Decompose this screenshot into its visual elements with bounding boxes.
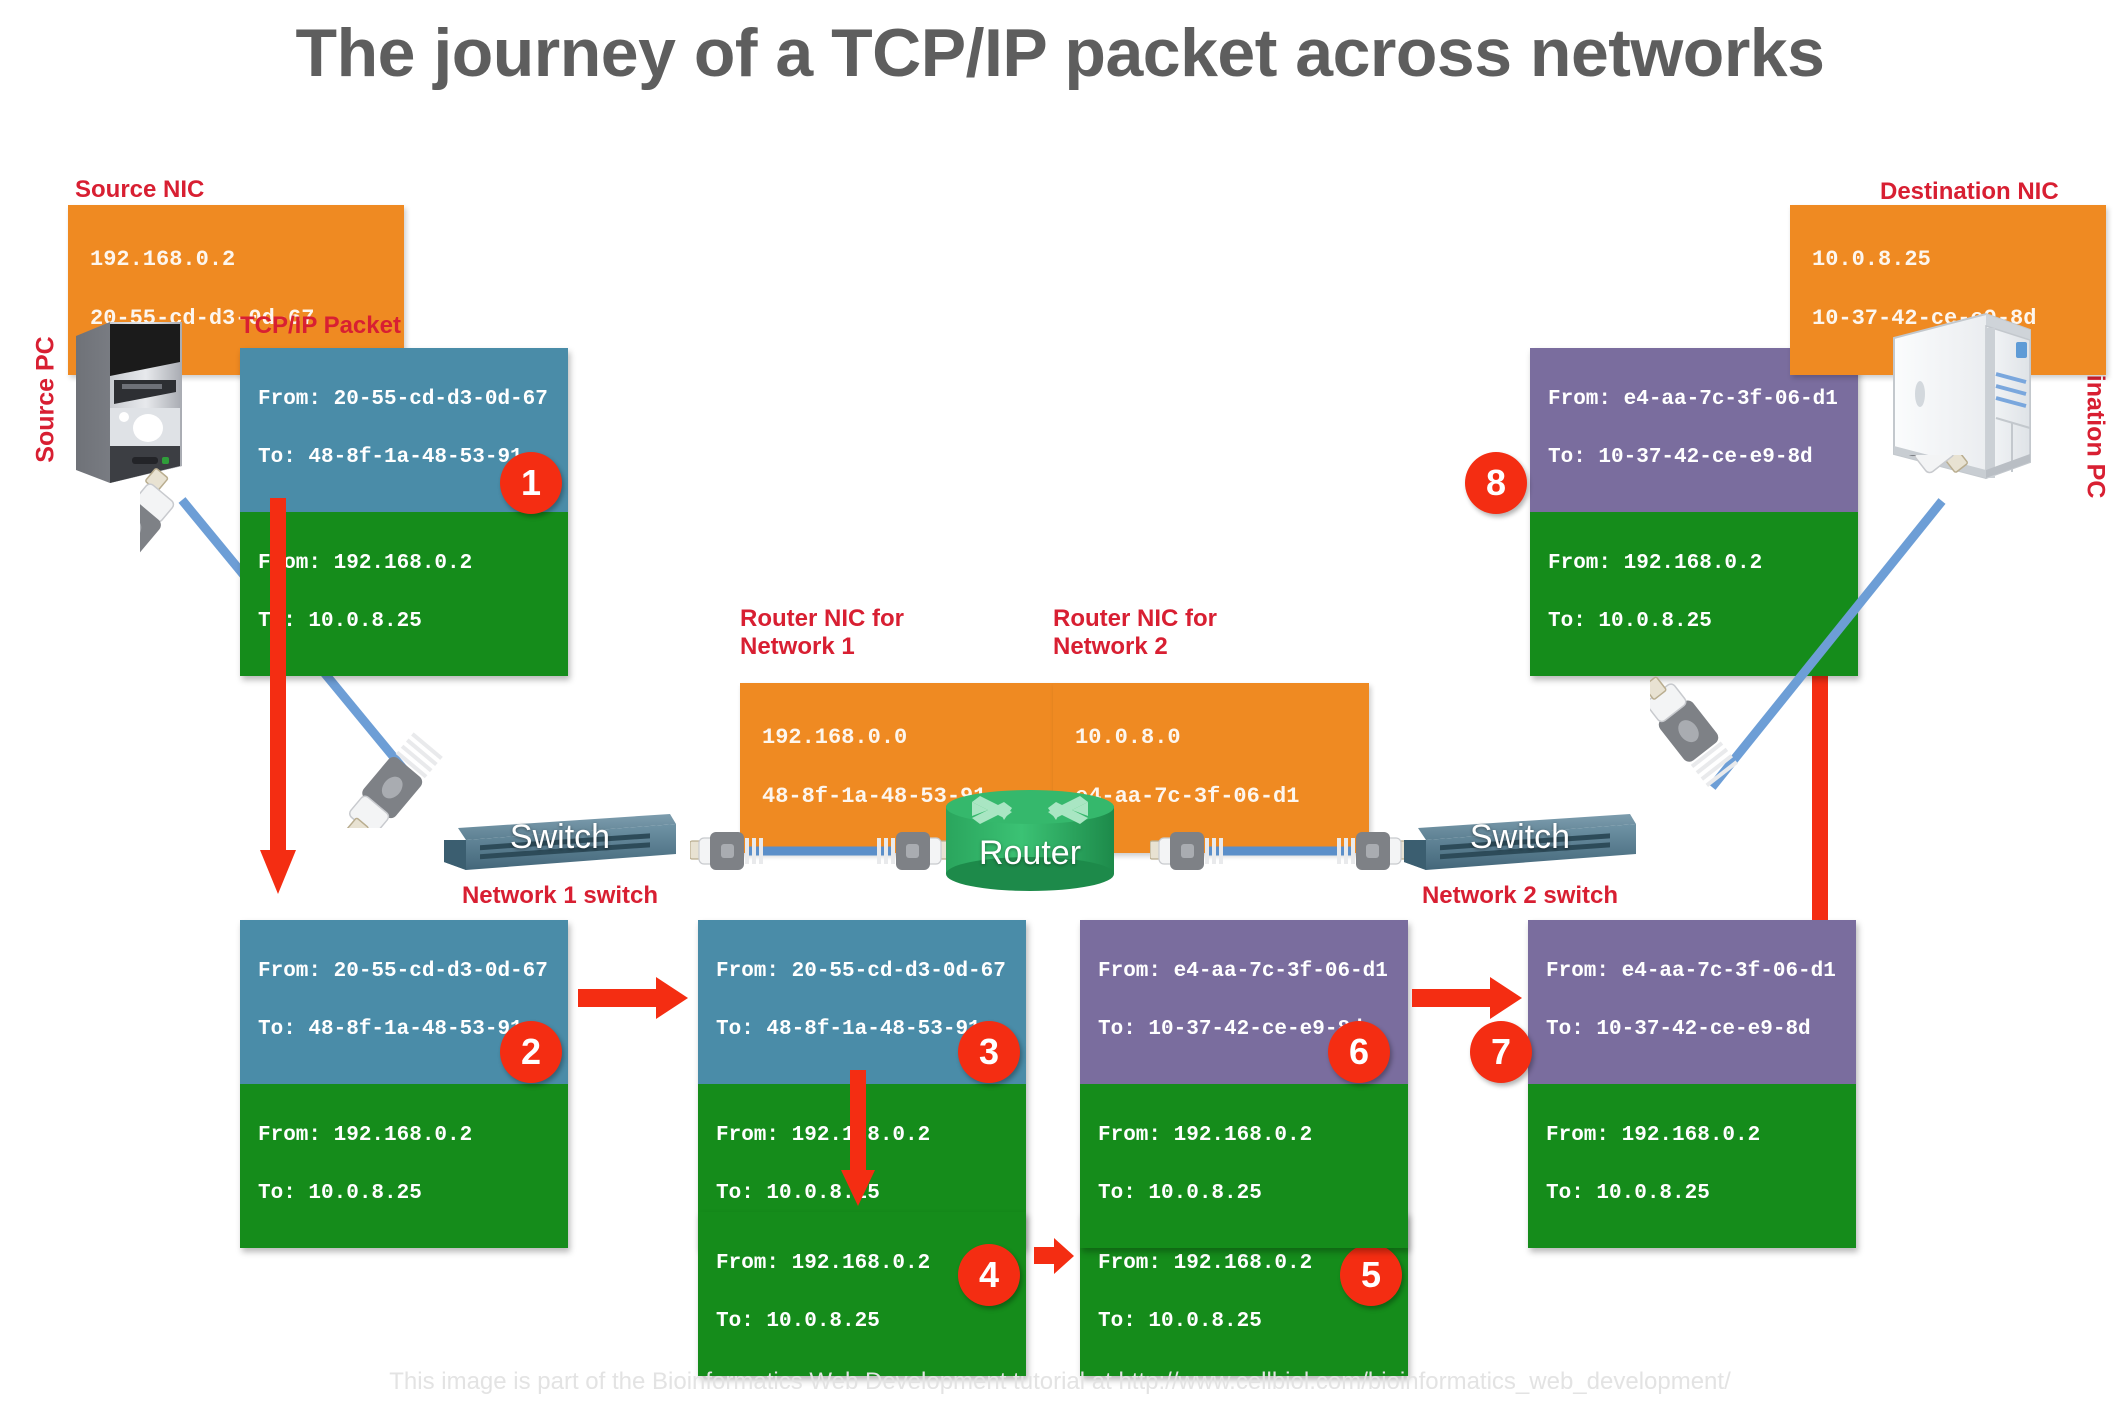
step-badge-1: 1 xyxy=(500,452,562,514)
step-badge-2: 2 xyxy=(500,1021,562,1083)
packet-6-ip-to: To: 10.0.8.25 xyxy=(1098,1180,1398,1209)
source-pc-label: Source PC xyxy=(32,330,61,470)
network2-switch-name: Switch xyxy=(1400,818,1640,857)
network1-switch-name: Switch xyxy=(440,818,680,857)
step-badge-7: 7 xyxy=(1470,1021,1532,1083)
step-badge-6: 6 xyxy=(1328,1021,1390,1083)
ethernet-cable-right-icon xyxy=(1650,455,1990,835)
packet-box-2: From: 20-55-cd-d3-0d-67 To: 48-8f-1a-48-… xyxy=(240,920,568,1248)
source-nic-label: Source NIC xyxy=(75,176,204,204)
packet-1-ip-to: To: 10.0.8.25 xyxy=(258,608,558,637)
packet-3-mac-from: From: 20-55-cd-d3-0d-67 xyxy=(716,958,1016,987)
router-nic-net2-ip: 10.0.8.0 xyxy=(1075,723,1353,753)
packet-box-6: From: e4-aa-7c-3f-06-d1 To: 10-37-42-ce-… xyxy=(1080,920,1408,1248)
packet-7-mac-from: From: e4-aa-7c-3f-06-d1 xyxy=(1546,958,1846,987)
packet-7-ip-header: From: 192.168.0.2 To: 10.0.8.25 xyxy=(1528,1084,1856,1248)
packet-4-ip-to: To: 10.0.8.25 xyxy=(716,1308,1016,1337)
router-nic-net1-ip: 192.168.0.0 xyxy=(762,723,1040,753)
packet-7-mac-to: To: 10-37-42-ce-e9-8d xyxy=(1546,1016,1846,1045)
arrow-6-to-7 xyxy=(1412,975,1524,1021)
arrow-2-to-3 xyxy=(578,975,690,1021)
step-badge-3: 3 xyxy=(958,1021,1020,1083)
packet-6-ip-from: From: 192.168.0.2 xyxy=(1098,1122,1398,1151)
packet-6-mac-from: From: e4-aa-7c-3f-06-d1 xyxy=(1098,958,1398,987)
source-nic-ip: 192.168.0.2 xyxy=(90,245,388,275)
network1-switch-icon: Switch xyxy=(440,810,680,882)
page-title: The journey of a TCP/IP packet across ne… xyxy=(0,14,2120,92)
packet-2-ip-from: From: 192.168.0.2 xyxy=(258,1122,558,1151)
packet-6-ip-header: From: 192.168.0.2 To: 10.0.8.25 xyxy=(1080,1084,1408,1248)
network1-switch-caption: Network 1 switch xyxy=(440,882,680,910)
arrow-1-to-2 xyxy=(258,498,298,898)
cable-router-switch2-icon xyxy=(1150,828,1410,874)
destination-nic-label: Destination NIC xyxy=(1880,178,2059,206)
packet-2-ip-to: To: 10.0.8.25 xyxy=(258,1180,558,1209)
packet-8-mac-from: From: e4-aa-7c-3f-06-d1 xyxy=(1548,386,1848,415)
packet-7-mac-header: From: e4-aa-7c-3f-06-d1 To: 10-37-42-ce-… xyxy=(1528,920,1856,1084)
packet-5-ip-to: To: 10.0.8.25 xyxy=(1098,1308,1398,1337)
packet-1-ip-from: From: 192.168.0.2 xyxy=(258,550,558,579)
router-nic-net2-label: Router NIC for Network 2 xyxy=(1053,605,1217,660)
arrow-4-to-5 xyxy=(1034,1236,1076,1276)
packet-box-7: From: e4-aa-7c-3f-06-d1 To: 10-37-42-ce-… xyxy=(1528,920,1856,1248)
step-badge-4: 4 xyxy=(958,1244,1020,1306)
destination-nic-ip: 10.0.8.25 xyxy=(1812,245,2090,275)
network2-switch-icon: Switch xyxy=(1400,810,1640,882)
packet-7-ip-to: To: 10.0.8.25 xyxy=(1546,1180,1846,1209)
packet-7-ip-from: From: 192.168.0.2 xyxy=(1546,1122,1846,1151)
router-name: Router xyxy=(942,834,1118,873)
packet-2-mac-from: From: 20-55-cd-d3-0d-67 xyxy=(258,958,558,987)
router-icon: Router xyxy=(942,790,1118,895)
packet-1-mac-from: From: 20-55-cd-d3-0d-67 xyxy=(258,386,558,415)
step-badge-5: 5 xyxy=(1340,1244,1402,1306)
step-badge-8: 8 xyxy=(1465,452,1527,514)
router-nic-net1-label: Router NIC for Network 1 xyxy=(740,605,904,660)
tcpip-packet-caption: TCP/IP Packet xyxy=(240,312,401,340)
arrow-3-to-4 xyxy=(838,1070,878,1210)
packet-2-ip-header: From: 192.168.0.2 To: 10.0.8.25 xyxy=(240,1084,568,1248)
cable-switch1-router-icon xyxy=(690,828,950,874)
network2-switch-caption: Network 2 switch xyxy=(1400,882,1640,910)
diagram-canvas: The journey of a TCP/IP packet across ne… xyxy=(0,0,2120,1411)
footer-credit: This image is part of the Bioinformatics… xyxy=(0,1368,2120,1396)
